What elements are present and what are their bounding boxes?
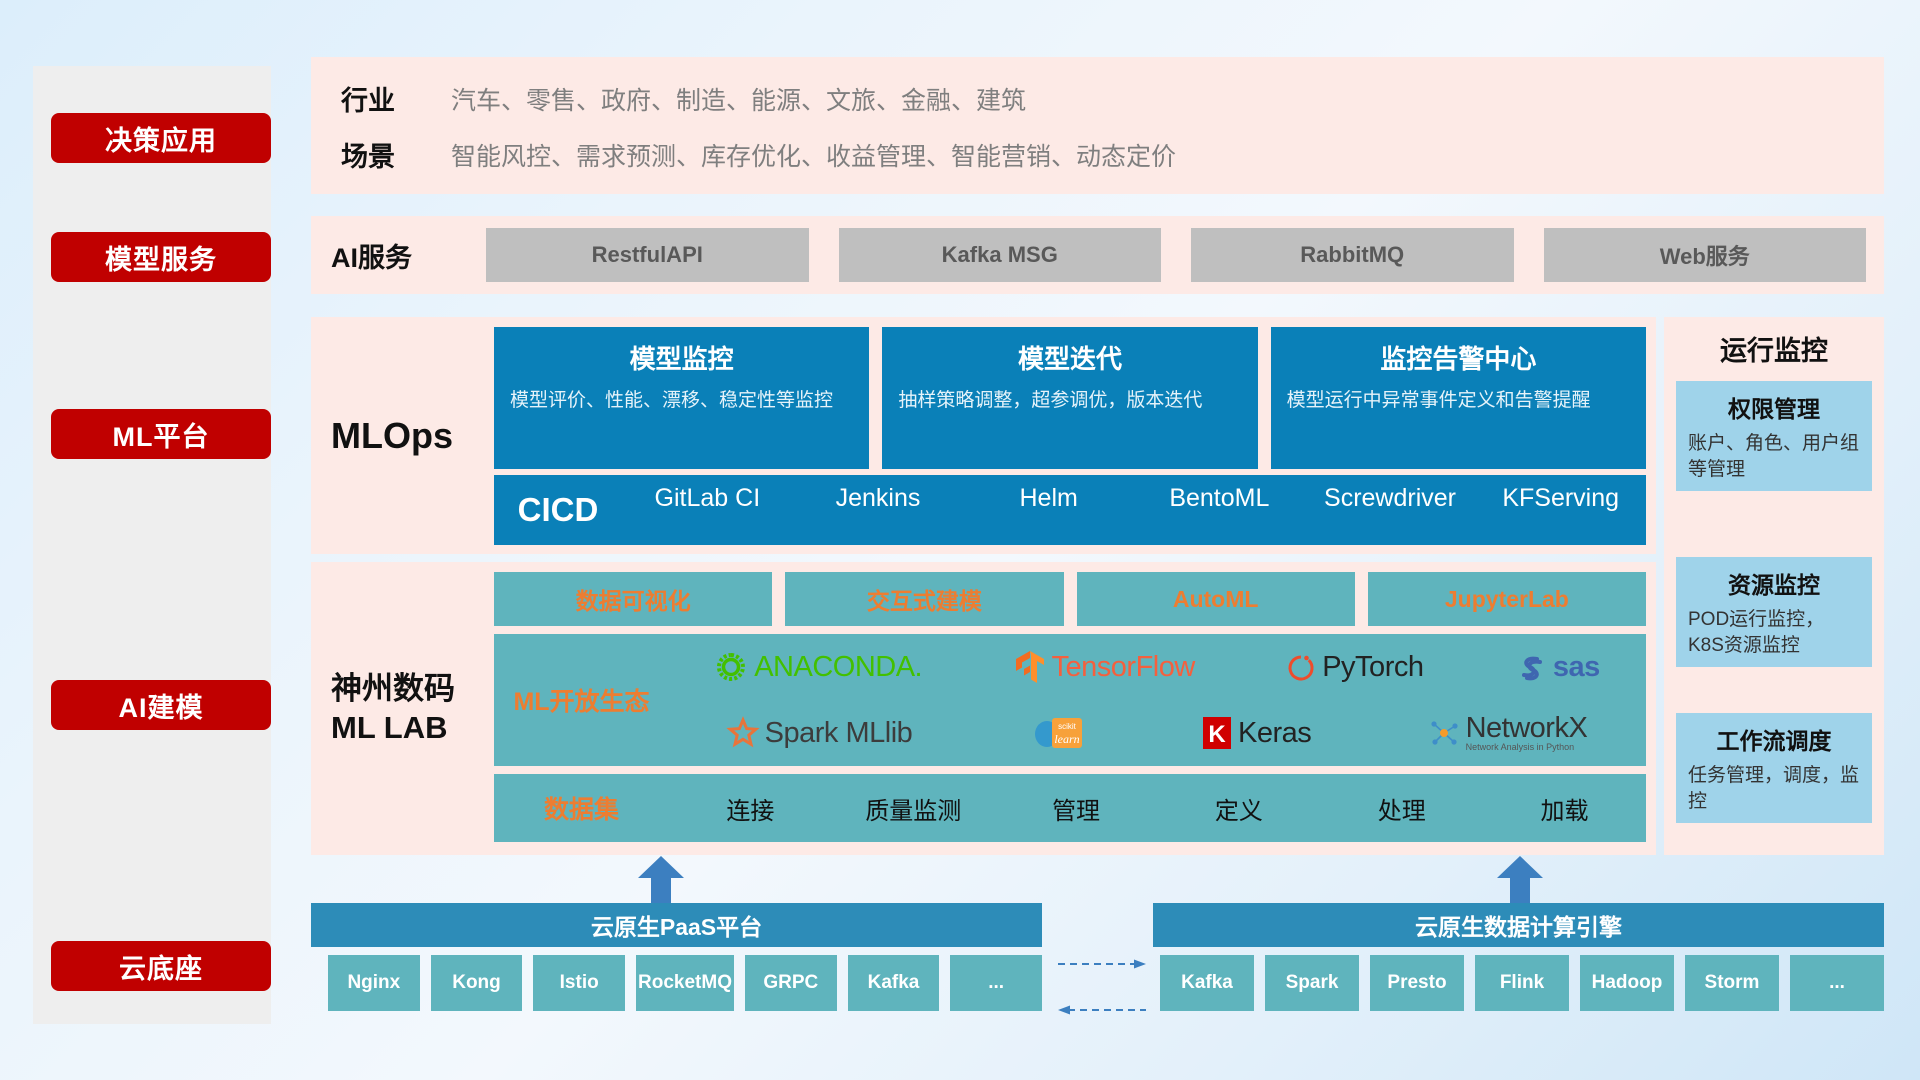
networkx-logo: NetworkX Network Analysis in Python	[1429, 714, 1588, 752]
mlops-card-list: 模型监控 模型评价、性能、漂移、稳定性等监控 模型迭代 抽样策略调整，超参调优，…	[494, 327, 1646, 469]
mlops-label: MLOps	[331, 317, 453, 554]
cloud-chip-more-data[interactable]: ...	[1790, 955, 1884, 1011]
networkx-tagline: Network Analysis in Python	[1466, 743, 1588, 752]
cloud-data-chip-list: Kafka Spark Presto Flink Hadoop Storm ..…	[1160, 955, 1884, 1011]
ai-service-chip-kafka-msg[interactable]: Kafka MSG	[839, 228, 1162, 282]
mlops-card-title: 模型迭代	[898, 339, 1241, 376]
mlops-card-model-monitoring[interactable]: 模型监控 模型评价、性能、漂移、稳定性等监控	[494, 327, 869, 469]
dataset-item-define[interactable]: 定义	[1157, 791, 1320, 826]
rail-item-decision-app[interactable]: 决策应用	[51, 113, 271, 163]
runtime-monitor-panel: 运行监控 权限管理 账户、角色、用户组等管理 资源监控 POD运行监控，K8S资…	[1664, 317, 1884, 855]
scenario-key: 场景	[341, 135, 451, 174]
ai-service-band: AI服务 RestfulAPI Kafka MSG RabbitMQ Web服务	[311, 216, 1884, 294]
scikit-learn-logo: scikit learn	[1030, 716, 1086, 750]
mlops-card-title: 监控告警中心	[1287, 339, 1630, 376]
cloud-chip-istio[interactable]: Istio	[533, 955, 625, 1011]
industry-value: 汽车、零售、政府、制造、能源、文旅、金融、建筑	[451, 81, 1026, 117]
monitor-card-permission[interactable]: 权限管理 账户、角色、用户组等管理	[1676, 381, 1872, 491]
industry-key: 行业	[341, 79, 451, 118]
ai-service-chip-list: RestfulAPI Kafka MSG RabbitMQ Web服务	[486, 228, 1866, 282]
mlops-card-model-iteration[interactable]: 模型迭代 抽样策略调整，超参调优，版本迭代	[882, 327, 1257, 469]
ml-lab-label-line2: ML LAB	[331, 709, 455, 748]
cloud-chip-kafka[interactable]: Kafka	[848, 955, 940, 1011]
cloud-chip-rocketmq[interactable]: RocketMQ	[636, 955, 734, 1011]
cloud-chip-spark[interactable]: Spark	[1265, 955, 1359, 1011]
runtime-monitor-title: 运行监控	[1664, 329, 1884, 368]
tensorflow-icon	[1015, 650, 1045, 684]
rail-item-cloud-base[interactable]: 云底座	[51, 941, 271, 991]
monitor-card-desc: POD运行监控，K8S资源监控	[1688, 607, 1860, 658]
spark-mllib-wordmark: Spark MLlib	[765, 717, 913, 750]
industry-row: 行业 汽车、零售、政府、制造、能源、文旅、金融、建筑	[341, 79, 1026, 118]
ai-service-chip-restfulapi[interactable]: RestfulAPI	[486, 228, 809, 282]
cicd-bar: CICD GitLab CI Jenkins Helm BentoML Scre…	[494, 475, 1646, 545]
ml-lab-band: 神州数码 ML LAB 数据可视化 交互式建模 AutoML JupyterLa…	[311, 562, 1656, 855]
anaconda-icon	[715, 651, 747, 683]
mlops-band: MLOps 模型监控 模型评价、性能、漂移、稳定性等监控 模型迭代 抽样策略调整…	[311, 317, 1656, 554]
svg-text:learn: learn	[1054, 732, 1079, 746]
cloud-chip-presto[interactable]: Presto	[1370, 955, 1464, 1011]
keras-icon: K	[1203, 717, 1231, 749]
ml-lab-tab-jupyterlab[interactable]: JupyterLab	[1368, 572, 1646, 626]
ml-lab-tab-data-visualization[interactable]: 数据可视化	[494, 572, 772, 626]
cloud-data-engine-bar[interactable]: 云原生数据计算引擎	[1153, 903, 1884, 947]
pytorch-logo: PyTorch	[1287, 651, 1423, 684]
ml-ecosystem-row: ML开放生态 ANACONDA.	[494, 634, 1646, 766]
sas-wordmark: sas	[1553, 651, 1600, 684]
sas-logo: sas	[1516, 651, 1600, 684]
cloud-chip-kafka-data[interactable]: Kafka	[1160, 955, 1254, 1011]
dashed-arrow-left-icon	[1058, 1004, 1146, 1006]
cicd-item-gitlab-ci[interactable]: GitLab CI	[622, 485, 793, 513]
scenario-value: 智能风控、需求预测、库存优化、收益管理、智能营销、动态定价	[451, 137, 1176, 173]
pytorch-wordmark: PyTorch	[1322, 651, 1423, 684]
dataset-item-manage[interactable]: 管理	[995, 791, 1158, 826]
cloud-chip-grpc[interactable]: GRPC	[745, 955, 837, 1011]
ml-lab-tab-interactive-modeling[interactable]: 交互式建模	[785, 572, 1063, 626]
keras-wordmark: Keras	[1238, 717, 1311, 750]
up-arrow-paas-icon	[638, 856, 684, 906]
mlops-card-alert-center[interactable]: 监控告警中心 模型运行中异常事件定义和告警提醒	[1271, 327, 1646, 469]
ml-lab-label: 神州数码 ML LAB	[331, 562, 455, 855]
scenario-row: 场景 智能风控、需求预测、库存优化、收益管理、智能营销、动态定价	[341, 135, 1176, 174]
ai-service-chip-web[interactable]: Web服务	[1544, 228, 1867, 282]
diagram-canvas: 决策应用 模型服务 ML平台 AI建模 云底座 行业 汽车、零售、政府、制造、能…	[0, 0, 1920, 1080]
monitor-card-title: 权限管理	[1688, 390, 1860, 424]
anaconda-wordmark: ANACONDA.	[754, 651, 922, 684]
rail-item-model-service[interactable]: 模型服务	[51, 232, 271, 282]
svg-text:scikit: scikit	[1058, 722, 1077, 731]
monitor-card-title: 工作流调度	[1688, 722, 1860, 756]
networkx-wordmark: NetworkX	[1466, 714, 1588, 743]
scikit-learn-icon: scikit learn	[1030, 716, 1086, 750]
monitor-card-desc: 账户、角色、用户组等管理	[1688, 431, 1860, 482]
dataset-item-quality[interactable]: 质量监测	[832, 791, 995, 826]
dataset-label: 数据集	[494, 790, 669, 826]
dataset-item-process[interactable]: 处理	[1320, 791, 1483, 826]
pytorch-icon	[1287, 651, 1315, 683]
cloud-chip-hadoop[interactable]: Hadoop	[1580, 955, 1674, 1011]
dataset-item-load[interactable]: 加载	[1483, 791, 1646, 826]
spark-star-icon	[728, 718, 758, 748]
tensorflow-logo: TensorFlow	[1015, 650, 1195, 684]
ai-service-chip-rabbitmq[interactable]: RabbitMQ	[1191, 228, 1514, 282]
ml-lab-label-line1: 神州数码	[331, 670, 455, 709]
ml-ecosystem-logo-row-2: Spark MLlib scikit learn	[669, 700, 1646, 766]
ai-service-label: AI服务	[331, 216, 412, 294]
up-arrow-data-engine-icon	[1497, 856, 1543, 906]
cicd-item-kfserving[interactable]: KFServing	[1475, 485, 1646, 513]
tensorflow-wordmark: TensorFlow	[1052, 651, 1195, 684]
ml-lab-tab-automl[interactable]: AutoML	[1077, 572, 1355, 626]
cicd-item-screwdriver[interactable]: Screwdriver	[1305, 485, 1476, 513]
cicd-item-bentoml[interactable]: BentoML	[1134, 485, 1305, 513]
monitor-card-workflow[interactable]: 工作流调度 任务管理，调度，监控	[1676, 713, 1872, 823]
cloud-chip-nginx[interactable]: Nginx	[328, 955, 420, 1011]
networkx-icon	[1429, 718, 1459, 748]
monitor-card-resource[interactable]: 资源监控 POD运行监控，K8S资源监控	[1676, 557, 1872, 667]
rail-item-ml-platform[interactable]: ML平台	[51, 409, 271, 459]
mlops-card-desc: 模型评价、性能、漂移、稳定性等监控	[510, 388, 853, 414]
monitor-card-title: 资源监控	[1688, 566, 1860, 600]
ml-lab-tab-list: 数据可视化 交互式建模 AutoML JupyterLab	[494, 572, 1646, 626]
ml-ecosystem-logo-grid: ANACONDA. TensorFlow	[669, 634, 1646, 766]
mlops-card-title: 模型监控	[510, 339, 853, 376]
cicd-item-list: GitLab CI Jenkins Helm BentoML Screwdriv…	[622, 475, 1646, 545]
decision-app-band: 行业 汽车、零售、政府、制造、能源、文旅、金融、建筑 场景 智能风控、需求预测、…	[311, 57, 1884, 194]
rail-item-ai-modeling[interactable]: AI建模	[51, 680, 271, 730]
svg-text:K: K	[1208, 721, 1226, 748]
monitor-card-desc: 任务管理，调度，监控	[1688, 763, 1860, 814]
cicd-title: CICD	[494, 491, 622, 529]
cicd-item-jenkins[interactable]: Jenkins	[793, 485, 964, 513]
dataset-item-connect[interactable]: 连接	[669, 791, 832, 826]
cloud-chip-more-paas[interactable]: ...	[950, 955, 1042, 1011]
dashed-arrow-right-icon	[1058, 958, 1146, 960]
cloud-chip-storm[interactable]: Storm	[1685, 955, 1779, 1011]
sas-icon	[1516, 652, 1546, 682]
dataset-row: 数据集 连接 质量监测 管理 定义 处理 加载	[494, 774, 1646, 842]
anaconda-logo: ANACONDA.	[715, 651, 922, 684]
cloud-paas-bar[interactable]: 云原生PaaS平台	[311, 903, 1042, 947]
cicd-item-helm[interactable]: Helm	[963, 485, 1134, 513]
cloud-chip-flink[interactable]: Flink	[1475, 955, 1569, 1011]
mlops-card-desc: 抽样策略调整，超参调优，版本迭代	[898, 388, 1241, 414]
mlops-card-desc: 模型运行中异常事件定义和告警提醒	[1287, 388, 1630, 414]
ml-ecosystem-label: ML开放生态	[494, 682, 669, 718]
spark-mllib-logo: Spark MLlib	[728, 717, 913, 750]
ml-ecosystem-logo-row-1: ANACONDA. TensorFlow	[669, 634, 1646, 700]
cloud-paas-chip-list: Nginx Kong Istio RocketMQ GRPC Kafka ...	[328, 955, 1042, 1011]
cloud-chip-kong[interactable]: Kong	[431, 955, 523, 1011]
keras-logo: K Keras	[1203, 717, 1311, 750]
left-rail: 决策应用 模型服务 ML平台 AI建模 云底座	[33, 66, 271, 1024]
